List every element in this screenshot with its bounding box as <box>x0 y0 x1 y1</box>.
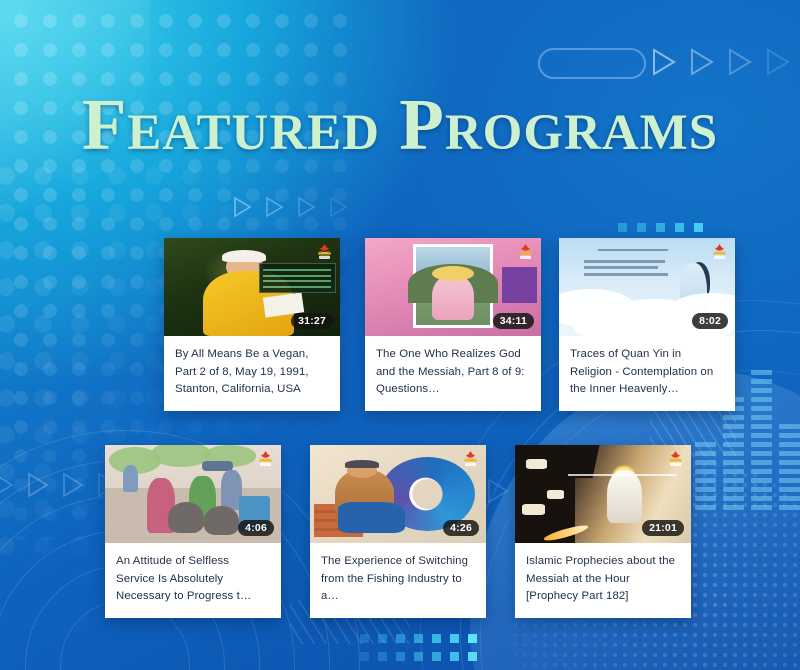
lotus-logo-icon <box>666 450 685 467</box>
program-title: An Attitude of Selfless Service Is Absol… <box>105 543 281 618</box>
program-thumbnail[interactable]: 34:11 <box>365 238 541 336</box>
lotus-logo-icon <box>516 243 535 260</box>
duration-badge: 4:26 <box>443 520 479 537</box>
lotus-logo-icon <box>256 450 275 467</box>
program-title: The One Who Realizes God and the Messiah… <box>365 336 541 411</box>
program-thumbnail[interactable]: 4:26 <box>310 445 486 543</box>
program-title: Traces of Quan Yin in Religion - Contemp… <box>559 336 735 411</box>
program-card[interactable]: 21:01 Islamic Prophecies about the Messi… <box>515 445 691 618</box>
program-thumbnail[interactable]: 8:02 <box>559 238 735 336</box>
duration-badge: 4:06 <box>238 520 274 537</box>
featured-programs-banner: Featured Programs 31:27 <box>0 0 800 670</box>
lotus-logo-icon <box>315 243 334 260</box>
program-card[interactable]: 31:27 By All Means Be a Vegan, Part 2 of… <box>164 238 340 411</box>
program-title: By All Means Be a Vegan, Part 2 of 8, Ma… <box>164 336 340 411</box>
duration-badge: 31:27 <box>291 313 333 330</box>
duration-badge: 21:01 <box>642 520 684 537</box>
program-title: The Experience of Switching from the Fis… <box>310 543 486 618</box>
program-thumbnail[interactable]: 4:06 <box>105 445 281 543</box>
programs-grid: 31:27 By All Means Be a Vegan, Part 2 of… <box>0 0 800 670</box>
duration-badge: 8:02 <box>692 313 728 330</box>
program-thumbnail[interactable]: 31:27 <box>164 238 340 336</box>
program-card[interactable]: 34:11 The One Who Realizes God and the M… <box>365 238 541 411</box>
lotus-logo-icon <box>461 450 480 467</box>
program-card[interactable]: 4:26 The Experience of Switching from th… <box>310 445 486 618</box>
program-thumbnail[interactable]: 21:01 <box>515 445 691 543</box>
program-title: Islamic Prophecies about the Messiah at … <box>515 543 691 618</box>
duration-badge: 34:11 <box>493 313 534 330</box>
lotus-logo-icon <box>710 243 729 260</box>
program-card[interactable]: 4:06 An Attitude of Selfless Service Is … <box>105 445 281 618</box>
program-card[interactable]: 8:02 Traces of Quan Yin in Religion - Co… <box>559 238 735 411</box>
